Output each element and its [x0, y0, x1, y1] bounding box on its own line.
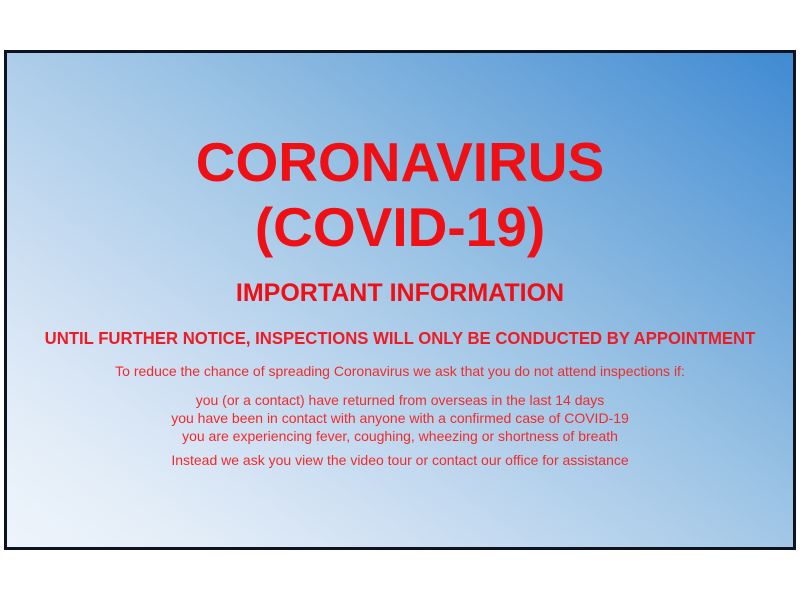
appointment-notice-text: UNTIL FURTHER NOTICE, INSPECTIONS WILL O… [25, 330, 776, 348]
condition-item: you (or a contact) have returned from ov… [7, 391, 793, 409]
poster-title-line-1: CORONAVIRUS [7, 135, 793, 190]
lead-instruction-text: To reduce the chance of spreading Corona… [7, 364, 793, 378]
page-background: CORONAVIRUS (COVID-19) IMPORTANT INFORMA… [0, 0, 800, 600]
poster-content: CORONAVIRUS (COVID-19) IMPORTANT INFORMA… [7, 53, 793, 547]
covid-notice-poster: CORONAVIRUS (COVID-19) IMPORTANT INFORMA… [4, 50, 796, 550]
poster-title-line-2: (COVID-19) [7, 200, 793, 255]
condition-item: you have been in contact with anyone wit… [7, 409, 793, 427]
condition-item: you are experiencing fever, coughing, wh… [7, 427, 793, 445]
conditions-list: you (or a contact) have returned from ov… [7, 391, 793, 445]
closing-instruction-text: Instead we ask you view the video tour o… [7, 453, 793, 467]
poster-subtitle: IMPORTANT INFORMATION [7, 281, 793, 306]
